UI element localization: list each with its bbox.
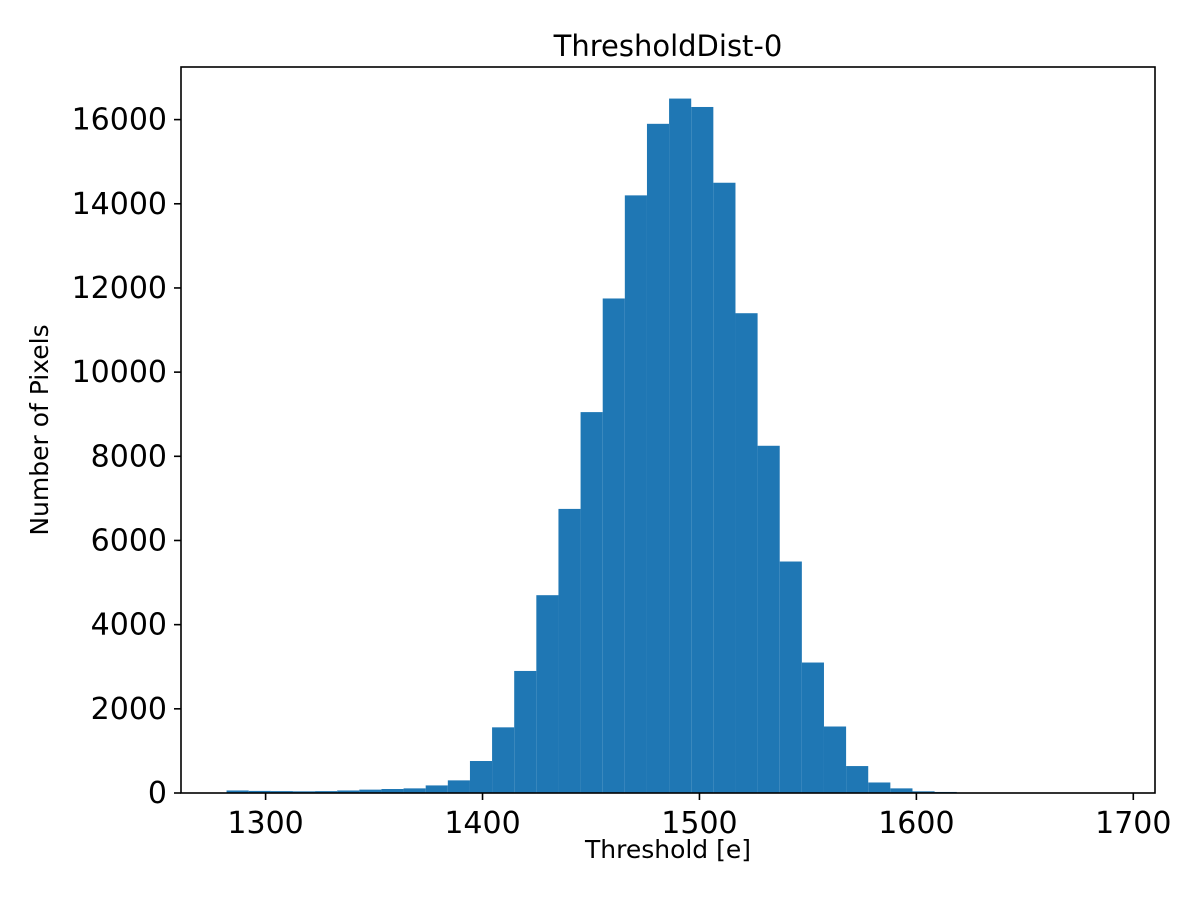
histogram-bar xyxy=(780,562,802,793)
histogram-bar xyxy=(581,412,603,793)
y-tick-label: 16000 xyxy=(72,103,167,138)
y-tick-label: 0 xyxy=(148,776,167,811)
histogram-bar xyxy=(625,195,647,793)
histogram-bar xyxy=(558,509,580,793)
histogram-bar xyxy=(691,107,713,793)
histogram-bar xyxy=(492,727,514,793)
histogram-bar xyxy=(824,727,846,794)
x-axis-label: Threshold [e] xyxy=(584,835,751,864)
histogram-bar xyxy=(647,124,669,793)
histogram-bar xyxy=(868,782,890,793)
y-tick-label: 12000 xyxy=(72,271,167,306)
histogram-bar xyxy=(846,766,868,793)
x-tick-label: 1400 xyxy=(444,806,520,841)
histogram-bar xyxy=(713,183,735,793)
histogram-bar xyxy=(426,785,448,793)
y-tick-label: 4000 xyxy=(91,608,167,643)
y-axis-ticks: 0200040006000800010000120001400016000 xyxy=(72,103,181,811)
histogram-bar xyxy=(448,780,470,793)
x-tick-label: 1600 xyxy=(878,806,954,841)
histogram-bar xyxy=(514,671,536,793)
chart-title: ThresholdDist-0 xyxy=(553,29,783,63)
histogram-chart: 13001400150016001700 0200040006000800010… xyxy=(0,0,1200,900)
x-tick-label: 1300 xyxy=(227,806,303,841)
histogram-bar xyxy=(802,663,824,793)
y-tick-label: 10000 xyxy=(72,355,167,390)
y-tick-label: 2000 xyxy=(91,692,167,727)
y-tick-label: 6000 xyxy=(91,523,167,558)
histogram-bar xyxy=(758,446,780,793)
histogram-bar xyxy=(470,761,492,793)
x-tick-label: 1700 xyxy=(1095,806,1171,841)
y-tick-label: 14000 xyxy=(72,187,167,222)
histogram-bar xyxy=(603,298,625,793)
histogram-bars xyxy=(227,99,957,793)
histogram-bar xyxy=(669,99,691,793)
histogram-bar xyxy=(735,313,757,793)
histogram-bar xyxy=(536,595,558,793)
figure-canvas: 13001400150016001700 0200040006000800010… xyxy=(0,0,1200,900)
x-axis-ticks: 13001400150016001700 xyxy=(227,793,1171,841)
y-axis-label: Number of Pixels xyxy=(25,324,54,535)
y-tick-label: 8000 xyxy=(91,439,167,474)
